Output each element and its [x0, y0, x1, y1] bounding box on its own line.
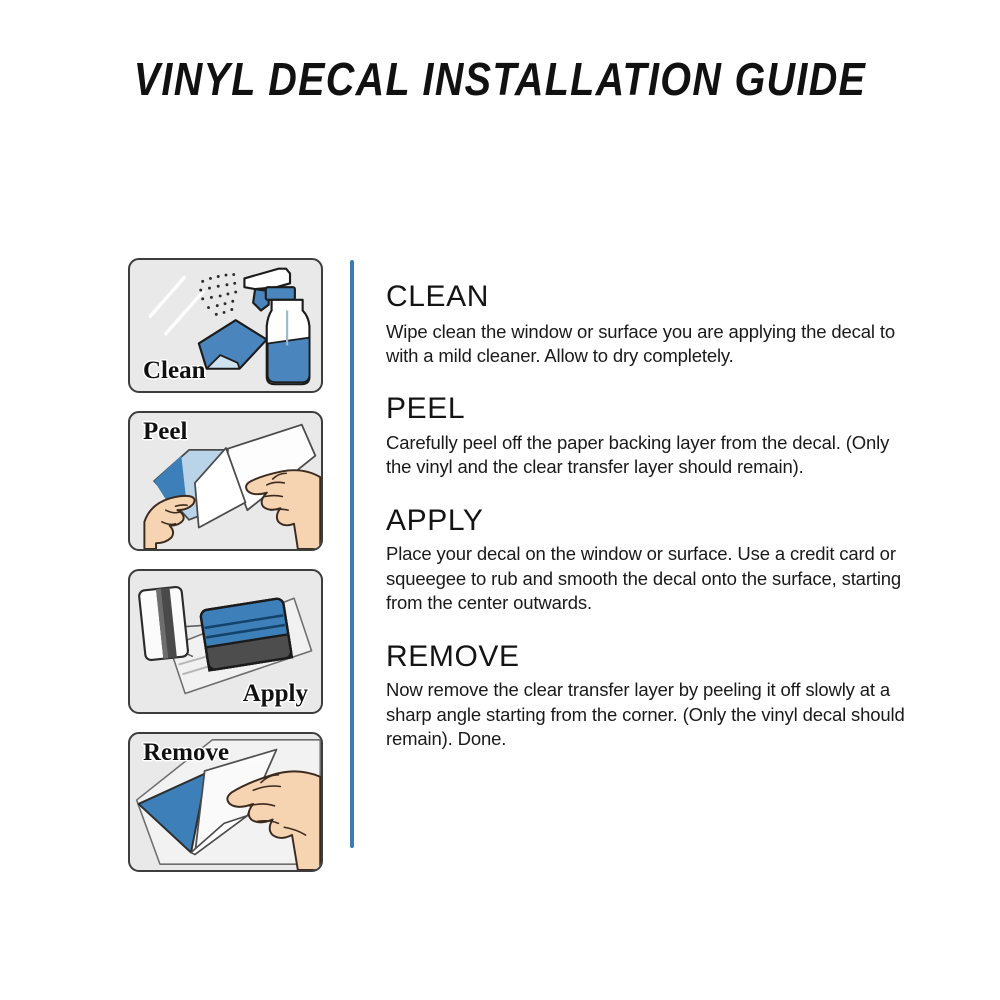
step-body-peel: Carefully peel off the paper backing lay… [386, 431, 914, 480]
step-heading-remove: REMOVE [386, 640, 914, 674]
step-apply: APPLY Place your decal on the window or … [386, 504, 914, 616]
panel-peel: Peel [128, 411, 323, 551]
step-heading-apply: APPLY [386, 504, 914, 538]
panel-remove: Remove [128, 732, 323, 872]
panel-label-peel: Peel [143, 418, 187, 446]
step-clean: CLEAN Wipe clean the window or surface y… [386, 280, 914, 368]
illustration-column: Clean [128, 258, 323, 872]
panel-label-apply: Apply [243, 680, 308, 708]
step-body-clean: Wipe clean the window or surface you are… [386, 320, 914, 369]
page-title: VINYL DECAL INSTALLATION GUIDE [70, 52, 930, 106]
panel-label-clean: Clean [143, 357, 206, 385]
step-remove: REMOVE Now remove the clear transfer lay… [386, 640, 914, 752]
step-heading-clean: CLEAN [386, 280, 914, 314]
step-heading-peel: PEEL [386, 392, 914, 426]
panel-label-remove: Remove [143, 739, 229, 767]
instructions-column: CLEAN Wipe clean the window or surface y… [386, 280, 914, 751]
panel-apply: Apply [128, 569, 323, 714]
step-peel: PEEL Carefully peel off the paper backin… [386, 392, 914, 479]
step-body-remove: Now remove the clear transfer layer by p… [386, 678, 914, 751]
panel-clean: Clean [128, 258, 323, 393]
step-body-apply: Place your decal on the window or surfac… [386, 542, 914, 615]
infographic-page: VINYL DECAL INSTALLATION GUIDE [0, 0, 1000, 1000]
guide-content: Clean [0, 258, 1000, 858]
vertical-divider [350, 260, 354, 848]
